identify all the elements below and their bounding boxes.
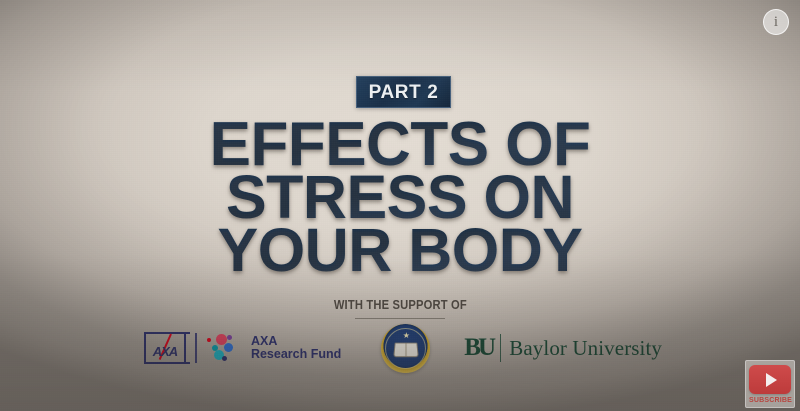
baylor-divider: [500, 334, 501, 362]
baylor-university-logo: BU Baylor University: [464, 334, 662, 362]
subscribe-button[interactable]: SUBSCRIBE: [745, 360, 795, 408]
university-seal-icon: ★: [381, 324, 430, 373]
play-triangle-icon: [766, 373, 777, 387]
axa-text-line-2: Research Fund: [251, 348, 341, 361]
uc-seal-star-icon: ★: [403, 333, 409, 339]
axa-research-fund-logo: AXA AXA Research Fund: [144, 332, 341, 364]
baylor-name-label: Baylor University: [509, 338, 662, 359]
video-frame: PART 2 EFFECTS OF STRESS ON YOUR BODY WI…: [0, 0, 800, 411]
axa-dots-icon: [206, 332, 240, 364]
axa-text-block: AXA Research Fund: [249, 335, 341, 361]
axa-wordmark: AXA: [146, 344, 184, 359]
youtube-play-icon: [749, 365, 791, 394]
uc-seal-logo: ★: [381, 324, 430, 373]
title-line-3: YOUR BODY: [0, 224, 800, 277]
baylor-bu-icon: BU: [464, 334, 492, 362]
support-label-container: WITH THE SUPPORT OF: [0, 296, 800, 315]
part-badge: PART 2: [356, 76, 451, 108]
uc-seal-book-icon: [393, 343, 419, 358]
info-icon: i: [774, 15, 778, 30]
part-badge-label: PART 2: [369, 83, 439, 102]
support-divider: [355, 318, 445, 319]
page-title: EFFECTS OF STRESS ON YOUR BODY: [0, 118, 800, 277]
support-label: WITH THE SUPPORT OF: [333, 297, 466, 315]
axa-divider: [195, 333, 197, 363]
subscribe-label: SUBSCRIBE: [749, 396, 791, 405]
info-button[interactable]: i: [763, 9, 789, 35]
sponsor-logo-row: AXA AXA Research Fund ★: [0, 322, 800, 374]
axa-brand-icon: AXA: [144, 332, 186, 364]
